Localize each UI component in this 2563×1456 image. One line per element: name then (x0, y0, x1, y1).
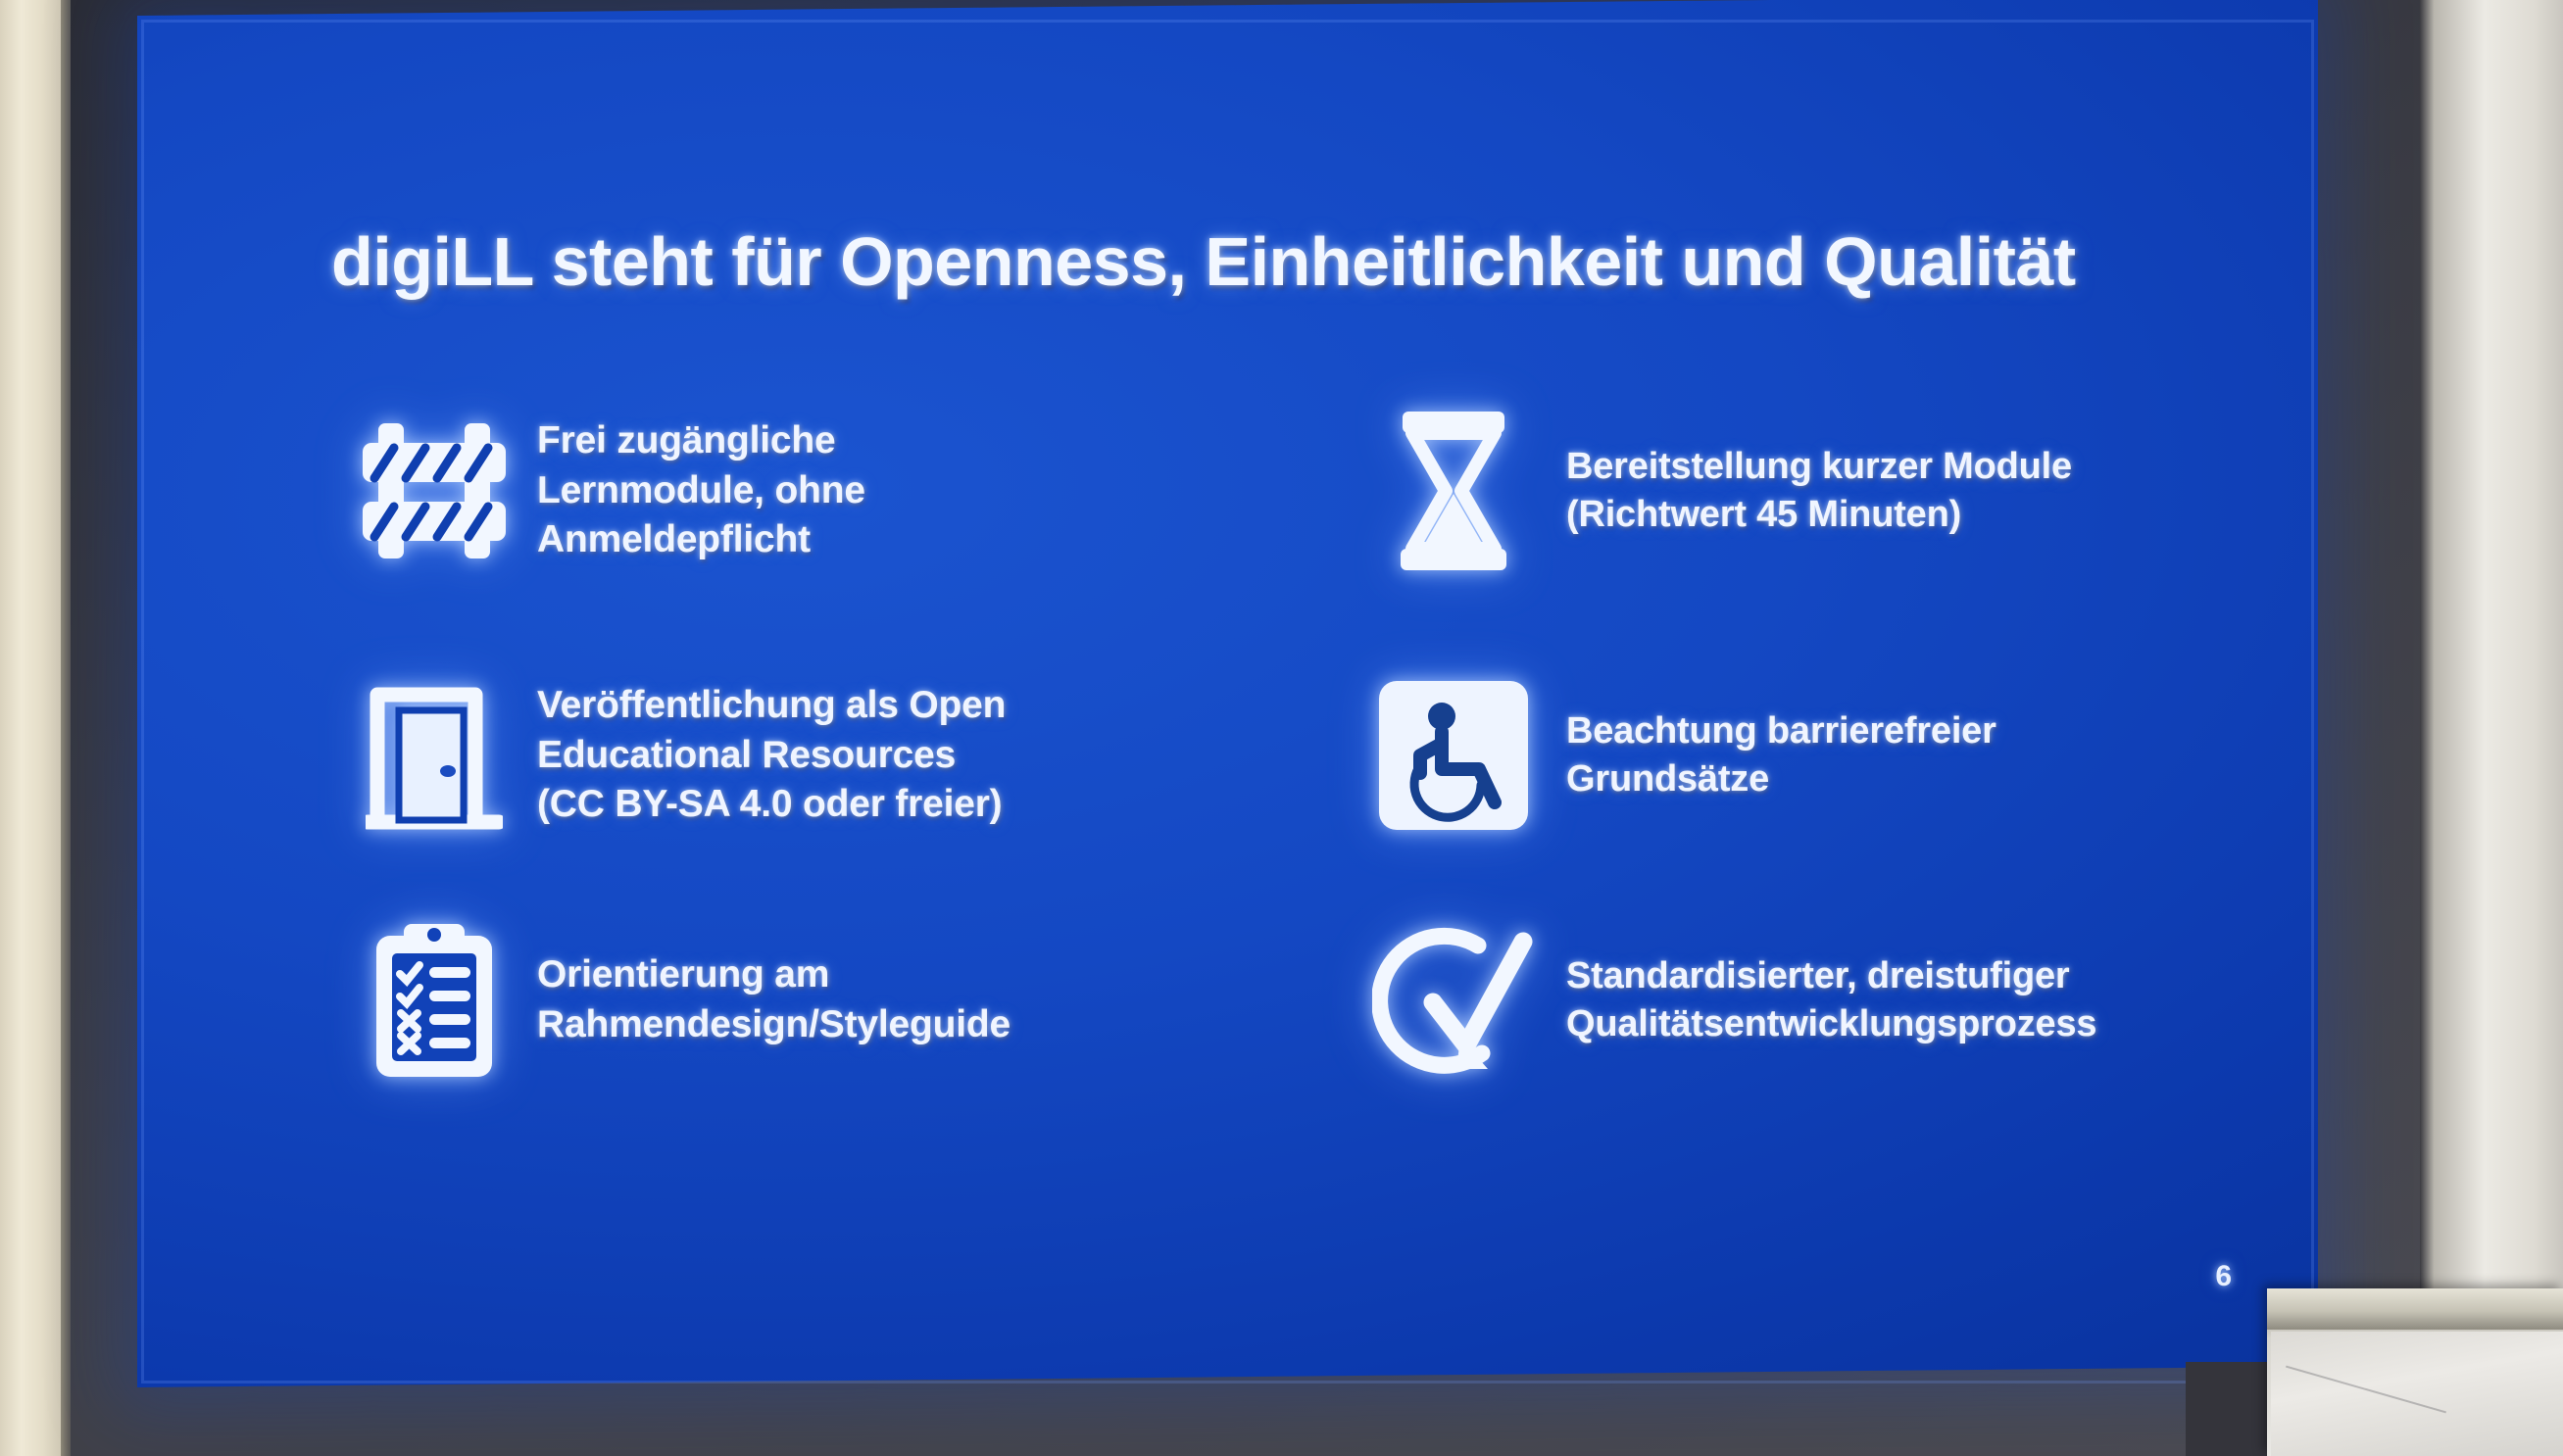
feature-item-text: Frei zugängliche Lernmodule, ohne Anmeld… (537, 416, 865, 565)
flipchart-board (2267, 1288, 2563, 1456)
flipchart-crease (2286, 1366, 2446, 1414)
feature-item-text: Bereitstellung kurzer Module (Richtwert … (1566, 443, 2072, 540)
feature-item-kurze-module: Bereitstellung kurzer Module (Richtwert … (1341, 398, 2252, 584)
projector-room-photo: digiLL steht für Openness, Einheitlichke… (0, 0, 2563, 1456)
feature-line: Rahmendesign/Styleguide (537, 1000, 1010, 1050)
slide-title: digiLL steht für Openness, Einheitlichke… (331, 226, 2193, 299)
feature-item-text: Veröffentlichung als Open Educational Re… (537, 681, 1006, 830)
feature-item-frei-zugaengliche: Frei zugängliche Lernmodule, ohne Anmeld… (331, 398, 1243, 584)
screen-lower-shadow (2186, 1362, 2279, 1456)
feature-line: Qualitätsentwicklungsprozess (1566, 1000, 2096, 1048)
feature-item-rahmendesign: Orientierung am Rahmendesign/Styleguide (331, 907, 1243, 1093)
feature-item-text: Beachtung barrierefreier Grundsätze (1566, 707, 1996, 804)
feature-item-text: Standardisierter, dreistufiger Qualitäts… (1566, 952, 2096, 1049)
right-column: Bereitstellung kurzer Module (Richtwert … (1341, 398, 2252, 1162)
feature-line: Veröffentlichung als Open (537, 681, 1006, 731)
left-column: Frei zugängliche Lernmodule, ohne Anmeld… (331, 398, 1243, 1162)
open-door-icon (331, 662, 537, 849)
hourglass-icon (1341, 398, 1566, 584)
feature-line: Frei zugängliche (537, 416, 865, 466)
presentation-slide: digiLL steht für Openness, Einheitlichke… (137, 0, 2318, 1387)
feature-line: Bereitstellung kurzer Module (1566, 443, 2072, 491)
feature-item-oer-veroeffentlichung: Veröffentlichung als Open Educational Re… (331, 662, 1243, 849)
feature-line: Grundsätze (1566, 755, 1996, 803)
feature-line: (CC BY-SA 4.0 oder freier) (537, 780, 1006, 830)
feature-line: Standardisierter, dreistufiger (1566, 952, 2096, 1000)
clipboard-checklist-icon (331, 907, 537, 1093)
flipchart-rail (2267, 1288, 2563, 1330)
feature-line: Lernmodule, ohne (537, 466, 865, 516)
slide-page-number: 6 (2215, 1260, 2232, 1293)
feature-item-text: Orientierung am Rahmendesign/Styleguide (537, 950, 1010, 1049)
flipchart-paper (2271, 1332, 2563, 1456)
wall-right-strip (2420, 0, 2563, 1456)
feature-line: Educational Resources (537, 731, 1006, 781)
feature-line: Orientierung am (537, 950, 1010, 1000)
road-barrier-icon (331, 398, 537, 584)
feature-item-barrierefreiheit: Beachtung barrierefreier Grundsätze (1341, 662, 2252, 849)
feature-grid: Frei zugängliche Lernmodule, ohne Anmeld… (331, 398, 2252, 1162)
wheelchair-accessibility-icon (1341, 662, 1566, 849)
cycle-checkmark-icon (1341, 907, 1566, 1093)
feature-line: (Richtwert 45 Minuten) (1566, 491, 2072, 539)
feature-line: Beachtung barrierefreier (1566, 707, 1996, 755)
feature-item-qualitaetsprozess: Standardisierter, dreistufiger Qualitäts… (1341, 907, 2252, 1093)
feature-line: Anmeldepflicht (537, 515, 865, 565)
wall-left-strip (0, 0, 61, 1456)
